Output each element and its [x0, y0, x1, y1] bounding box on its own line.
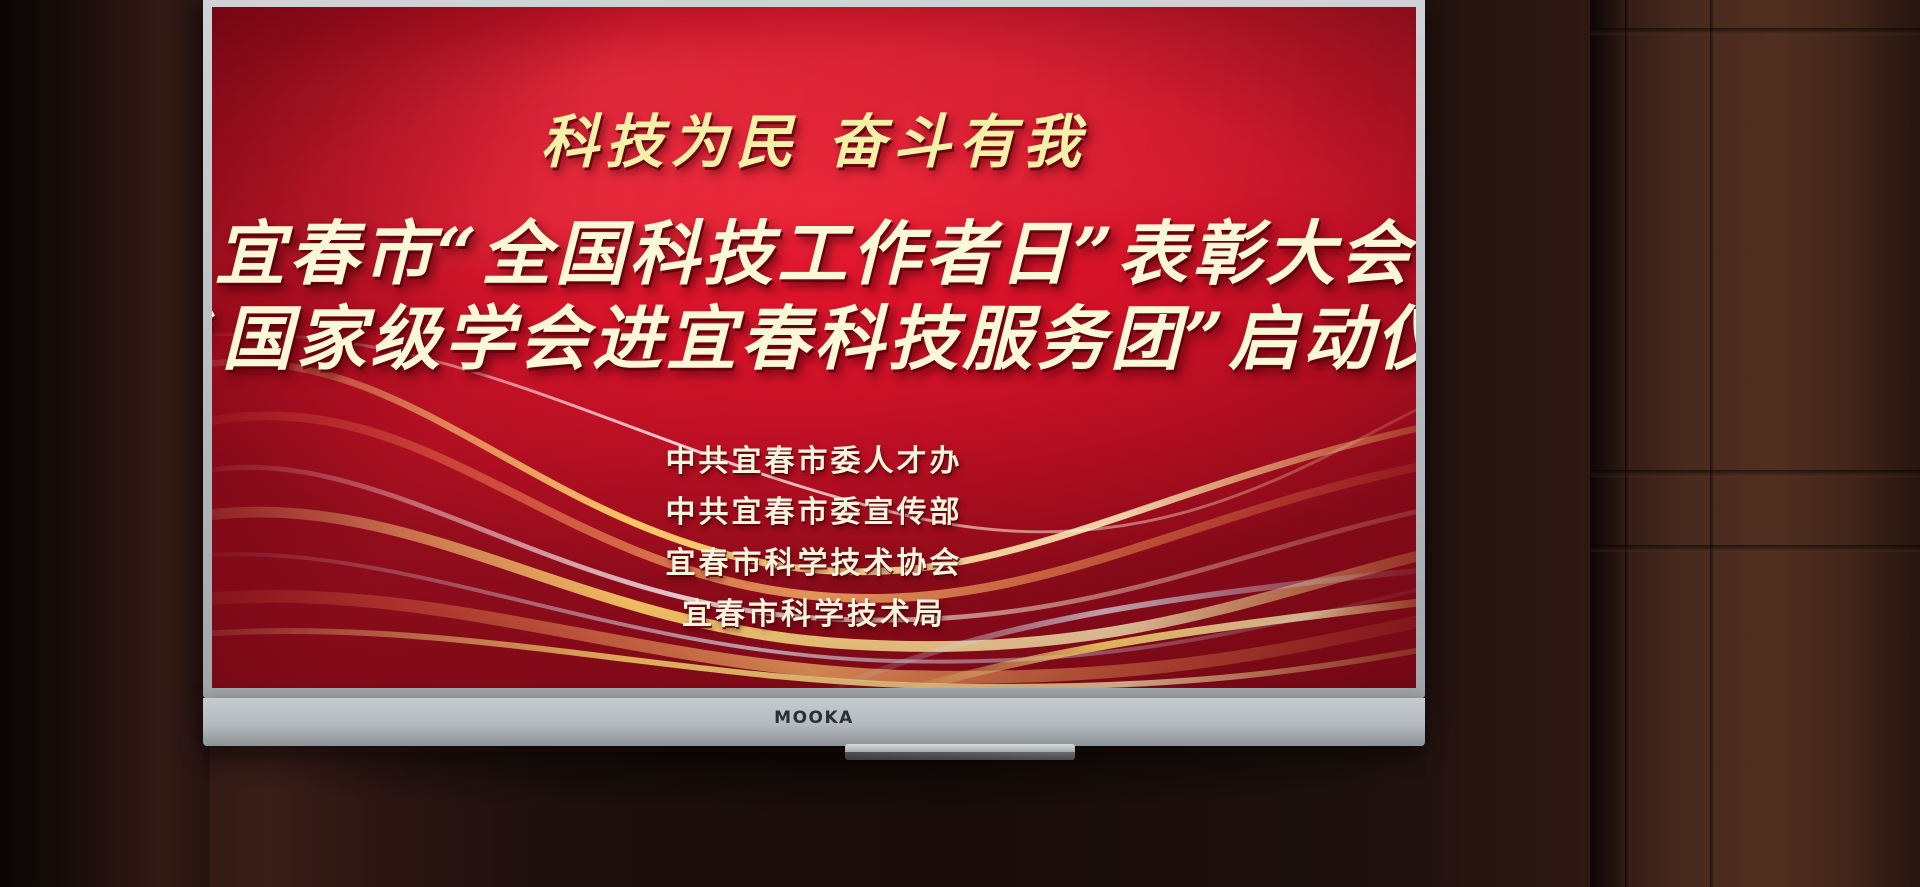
organizer-item: 宜春市科学技术协会 — [666, 538, 963, 582]
room-scene: 科技为民 奋斗有我 宜春市“全国科技工作者日”表彰大会 暨“国家级学会进宜春科技… — [0, 0, 1920, 887]
wall-left-column — [0, 0, 210, 887]
television[interactable]: 科技为民 奋斗有我 宜春市“全国科技工作者日”表彰大会 暨“国家级学会进宜春科技… — [203, 0, 1425, 698]
wood-horizontal-seam — [1590, 470, 1920, 477]
wood-panel-right — [1590, 0, 1920, 887]
tv-drop-shadow — [203, 752, 1425, 812]
organizer-item: 中共宜春市委人才办 — [666, 436, 963, 480]
wood-horizontal-seam — [1590, 545, 1920, 552]
backdrop-text-block: 科技为民 奋斗有我 宜春市“全国科技工作者日”表彰大会 暨“国家级学会进宜春科技… — [212, 7, 1416, 688]
wood-vertical-seam — [1710, 0, 1715, 887]
tv-chin: MOOKA — [203, 698, 1425, 746]
wood-horizontal-seam — [1590, 28, 1920, 35]
organizer-item: 宜春市科学技术局 — [666, 589, 963, 633]
tv-brand-logo: MOOKA — [774, 708, 854, 728]
backdrop-headline: 科技为民 奋斗有我 — [540, 95, 1087, 179]
wood-vertical-seam — [1625, 0, 1630, 887]
organizer-item: 中共宜春市委宣传部 — [666, 487, 963, 531]
tv-screen[interactable]: 科技为民 奋斗有我 宜春市“全国科技工作者日”表彰大会 暨“国家级学会进宜春科技… — [212, 7, 1416, 688]
backdrop-title-line-2: 暨“国家级学会进宜春科技服务团”启动仪式 — [212, 298, 1416, 381]
organizer-list: 中共宜春市委人才办 中共宜春市委宣传部 宜春市科学技术协会 宜春市科学技术局 — [666, 436, 963, 633]
tv-bezel: 科技为民 奋斗有我 宜春市“全国科技工作者日”表彰大会 暨“国家级学会进宜春科技… — [212, 7, 1416, 688]
backdrop-title-line-1: 宜春市“全国科技工作者日”表彰大会 — [215, 213, 1414, 296]
